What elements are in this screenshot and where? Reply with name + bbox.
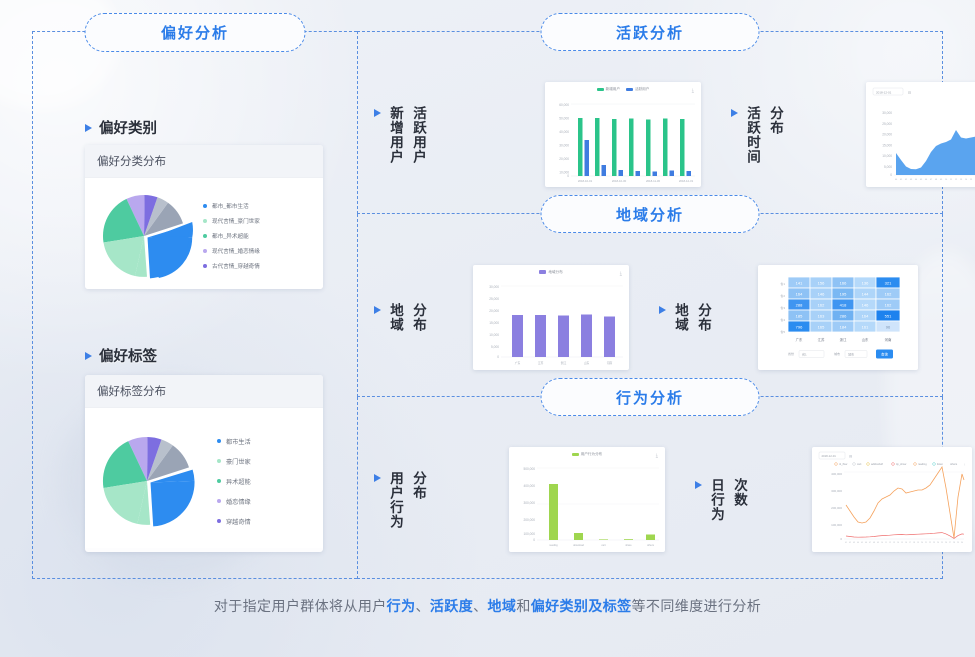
panel-active-analysis: 活跃分析 新增用户 活跃用户 新增用户 — [357, 31, 943, 214]
legend-dot-icon — [217, 499, 221, 503]
svg-text:share: share — [625, 544, 632, 547]
heading-preference-tag: 偏好标签 — [85, 345, 157, 366]
svg-text:141: 141 — [796, 280, 803, 285]
svg-text:162: 162 — [885, 302, 892, 307]
svg-text:30,000: 30,000 — [559, 144, 569, 148]
svg-text:listen: listen — [937, 462, 944, 466]
svg-text:17: 17 — [909, 542, 911, 544]
svg-text:addtoshelf: addtoshelf — [871, 462, 883, 466]
legend-label: 都市生活 — [226, 437, 251, 446]
right-panels: 活跃分析 新增用户 活跃用户 新增用户 — [357, 31, 943, 579]
svg-text:10: 10 — [881, 542, 883, 544]
svg-text:0: 0 — [533, 538, 535, 542]
svg-text:500,000: 500,000 — [523, 467, 535, 471]
behavior-item-daily-count: 日行为 次数 2018-12-01 ▤ t1_flow cart addtosh… — [695, 447, 972, 552]
svg-text:551: 551 — [885, 313, 892, 318]
svg-text:22: 22 — [929, 542, 931, 544]
legend-dot-icon — [203, 264, 207, 268]
svg-text:山东: 山东 — [584, 361, 590, 365]
label-distribution-text: 分布 — [766, 106, 784, 135]
region-item-heatmap: 地域 分布 省1省2省3 省4省5 — [659, 265, 918, 370]
svg-text:13: 13 — [960, 179, 963, 181]
legend-dot-icon — [203, 249, 207, 253]
legend-item: 现代言情_婚恋情缘 — [203, 247, 260, 255]
svg-text:40,000: 40,000 — [559, 130, 569, 134]
caption-part-5: 等不同维度进行分析 — [632, 598, 762, 614]
legend-item: 新增用户 — [597, 87, 620, 92]
svg-text:11: 11 — [885, 542, 887, 544]
svg-text:15: 15 — [901, 542, 903, 544]
svg-text:tip_show: tip_show — [896, 462, 906, 466]
legend-dot-icon — [217, 439, 221, 443]
svg-text:96: 96 — [886, 324, 891, 329]
svg-text:省3: 省3 — [780, 305, 785, 310]
svg-text:07: 07 — [930, 179, 933, 181]
svg-text:03: 03 — [853, 542, 855, 544]
heading-preference-tag-text: 偏好标签 — [99, 345, 157, 366]
triangle-bullet-icon — [374, 474, 381, 482]
svg-text:27: 27 — [949, 542, 951, 544]
label-new-active-users: 新增用户 活跃用户 — [374, 106, 535, 164]
legend-swatch-icon — [572, 453, 579, 457]
chart-card-region-bar[interactable]: 地域分布 ⤓ 30,000 25,000 20,000 15,000 10,00… — [473, 265, 629, 370]
label-region-distribution-2: 地域 分布 — [659, 303, 748, 332]
svg-text:08: 08 — [935, 179, 938, 181]
heatmap-footer-label-1: 省份 — [788, 351, 794, 356]
chart-card-region-heatmap[interactable]: 省1省2省3 省4省5 14115616613 — [758, 265, 918, 370]
legend-label: 用户行为分布 — [581, 452, 603, 457]
section-title-preference: 偏好分析 — [85, 13, 306, 52]
label-daily-behavior-count: 日行为 次数 — [695, 478, 802, 522]
legend-label: 豪门世家 — [226, 457, 251, 466]
bar-chart-user-behavior: 500,000 400,000 300,000 200,000 100,000 … — [509, 447, 665, 552]
svg-text:河南: 河南 — [885, 337, 892, 342]
card-preference-category-distribution[interactable]: 偏好分类分布 — [85, 145, 323, 289]
svg-text:100,000: 100,000 — [831, 523, 842, 527]
area-chart-active-time: 2018-12-01 日 ⤓ 30,000 25,000 20,000 15,0… — [866, 82, 975, 187]
bar-chart-region: 30,000 25,000 20,000 15,000 10,000 5,000… — [473, 265, 629, 370]
svg-text:25: 25 — [941, 542, 943, 544]
chart-card-user-behavior[interactable]: 用户行为分布 ⤓ 500,000 400,000 300,000 200,000… — [509, 447, 665, 552]
section-title-behavior-text: 行为分析 — [616, 387, 684, 408]
svg-text:cart: cart — [601, 544, 605, 547]
svg-text:江苏: 江苏 — [818, 337, 825, 342]
date-selector-value: 2018-12-01 — [822, 454, 837, 458]
svg-text:cart: cart — [857, 462, 862, 466]
line-chart-daily-behavior: 2018-12-01 ▤ t1_flow cart addtoshelf tip… — [812, 447, 972, 552]
svg-text:reading: reading — [918, 462, 927, 466]
label-region-text: 地域 — [386, 303, 404, 332]
label-distribution-text: 分布 — [409, 303, 427, 332]
svg-text:10,000: 10,000 — [882, 154, 892, 158]
section-title-preference-text: 偏好分析 — [161, 22, 229, 43]
svg-text:07: 07 — [869, 542, 871, 544]
card-body-preference-tag: 都市生活 豪门世家 异术超能 婚恋情缘 — [85, 408, 323, 548]
legend-item: 异术超能 — [217, 477, 251, 486]
svg-text:02: 02 — [905, 179, 908, 181]
svg-text:14: 14 — [897, 542, 899, 544]
svg-text:浙江: 浙江 — [840, 337, 847, 342]
svg-text:01: 01 — [845, 542, 847, 544]
legend-label: 古代言情_穿越奇情 — [212, 262, 260, 270]
pie-chart-preference-tag — [91, 422, 203, 540]
svg-text:321: 321 — [885, 280, 892, 285]
legend-dot-icon — [217, 479, 221, 483]
svg-text:21: 21 — [925, 542, 927, 544]
svg-text:23: 23 — [933, 542, 935, 544]
svg-text:0: 0 — [840, 537, 842, 541]
preference-category-block: 偏好类别 — [85, 117, 157, 138]
svg-text:11: 11 — [950, 179, 953, 181]
svg-text:省2: 省2 — [780, 293, 785, 298]
svg-text:162: 162 — [818, 302, 825, 307]
section-title-behavior: 行为分析 — [541, 378, 760, 416]
triangle-bullet-icon — [374, 306, 381, 314]
svg-text:164: 164 — [796, 291, 803, 296]
svg-text:02: 02 — [849, 542, 851, 544]
legend-label: 婚恋情缘 — [226, 497, 251, 506]
svg-text:t1_flow: t1_flow — [839, 462, 847, 466]
svg-text:195: 195 — [840, 291, 847, 296]
legend-dot-icon — [217, 459, 221, 463]
legend-label: 穿越奇情 — [226, 517, 251, 526]
diagram-board: 偏好分析 偏好类别 偏好分类分布 — [32, 31, 943, 579]
legend-swatch-icon — [597, 88, 604, 92]
legend-item: 古代言情_穿越奇情 — [203, 262, 260, 270]
caption-highlight-behavior: 行为 — [387, 598, 416, 614]
svg-text:60,000: 60,000 — [559, 103, 569, 107]
legend-item: 都市_都市生活 — [203, 202, 260, 210]
chart-legend-new-active-users: 新增用户 活跃用户 — [545, 87, 701, 92]
triangle-bullet-icon — [731, 109, 738, 117]
legend-swatch-icon — [539, 270, 546, 274]
caption-part-2: 、 — [415, 598, 429, 614]
legend-label: 现代言情_豪门世家 — [212, 217, 260, 225]
legend-item: 现代言情_豪门世家 — [203, 217, 260, 225]
label-active-time-text: 活跃时间 — [743, 106, 761, 164]
svg-text:200,000: 200,000 — [831, 506, 842, 510]
svg-text:广东: 广东 — [515, 361, 521, 365]
chart-card-new-active-users[interactable]: 新增用户 活跃用户 ⤓ 60,000 50,000 — [545, 82, 701, 187]
svg-text:2018-11-30: 2018-11-30 — [646, 179, 661, 183]
legend-item: 豪门世家 — [217, 457, 251, 466]
chart-card-active-time[interactable]: 2018-12-01 日 ⤓ 30,000 25,000 20,000 15,0… — [866, 82, 975, 187]
svg-text:20,000: 20,000 — [559, 157, 569, 161]
svg-text:300,000: 300,000 — [831, 489, 842, 493]
svg-text:2018-10-01: 2018-10-01 — [578, 179, 593, 183]
svg-text:09: 09 — [940, 179, 943, 181]
svg-text:146: 146 — [862, 302, 869, 307]
legend-dot-icon — [203, 204, 207, 208]
label-daily-behavior-text: 日行为 — [707, 478, 725, 522]
svg-text:others: others — [950, 462, 958, 466]
svg-text:⤓: ⤓ — [964, 463, 966, 466]
label-new-users-text: 新增用户 — [386, 106, 404, 164]
card-preference-tag-distribution[interactable]: 偏好标签分布 — [85, 375, 323, 552]
legend-item: 活跃用户 — [626, 87, 649, 92]
svg-text:200,000: 200,000 — [523, 518, 535, 522]
label-region-distribution-1: 地域 分布 — [374, 303, 463, 332]
legend-item: 地域分布 — [539, 270, 562, 275]
svg-text:01: 01 — [900, 179, 903, 181]
svg-text:20,000: 20,000 — [489, 309, 499, 313]
label-user-behavior-distribution: 用户行为 分布 — [374, 471, 499, 529]
caption-part-1: 对于指定用户群体将从用户 — [214, 598, 387, 614]
section-title-active: 活跃分析 — [541, 13, 760, 51]
legend-label: 异术超能 — [226, 477, 251, 486]
svg-text:06: 06 — [925, 179, 928, 181]
triangle-bullet-icon — [85, 352, 92, 360]
svg-text:省5: 省5 — [780, 329, 785, 334]
label-user-behavior-text: 用户行为 — [386, 471, 404, 529]
svg-text:浙江: 浙江 — [561, 361, 567, 365]
label-active-time-distribution: 活跃时间 分布 — [731, 106, 856, 164]
svg-text:286: 286 — [840, 313, 847, 318]
pie-legend-preference-category: 都市_都市生活 现代言情_豪门世家 都市_异术超能 现代言情_婚恋情缘 — [203, 202, 260, 270]
label-count-text: 次数 — [730, 478, 748, 507]
svg-text:30,000: 30,000 — [489, 285, 499, 289]
preference-tag-block: 偏好标签 — [85, 345, 157, 366]
pie-chart-preference-category — [91, 186, 197, 286]
svg-text:418: 418 — [840, 302, 847, 307]
legend-item: 都市生活 — [217, 437, 251, 446]
legend-label: 新增用户 — [606, 87, 620, 92]
section-title-active-text: 活跃分析 — [616, 22, 684, 43]
caption-part-4: 和 — [516, 598, 530, 614]
active-item-new-users: 新增用户 活跃用户 新增用户 活跃用户 — [374, 82, 701, 187]
svg-text:05: 05 — [920, 179, 923, 181]
svg-text:184: 184 — [840, 324, 847, 329]
heatmap-footer-value-2: 城市 — [848, 351, 854, 356]
legend-item: 穿越奇情 — [217, 517, 251, 526]
svg-text:146: 146 — [818, 291, 825, 296]
svg-text:156: 156 — [818, 280, 825, 285]
svg-text:5,000: 5,000 — [884, 165, 892, 169]
svg-text:河南: 河南 — [607, 361, 613, 365]
chart-legend-region: 地域分布 — [473, 270, 629, 275]
svg-text:others: others — [647, 544, 655, 547]
svg-text:江苏: 江苏 — [538, 361, 544, 365]
chart-legend-user-behavior: 用户行为分布 — [509, 452, 665, 457]
label-region-text: 地域 — [671, 303, 689, 332]
card-title-preference-category: 偏好分类分布 — [85, 145, 323, 178]
panel-preference-analysis: 偏好分析 偏好类别 偏好分类分布 — [32, 31, 357, 579]
svg-text:12: 12 — [889, 542, 891, 544]
triangle-bullet-icon — [374, 109, 381, 117]
legend-label: 活跃用户 — [635, 87, 649, 92]
svg-text:164: 164 — [862, 313, 869, 318]
svg-text:06: 06 — [865, 542, 867, 544]
download-icon[interactable]: ⤓ — [620, 271, 622, 277]
region-item-bar: 地域 分布 地域分布 ⤓ 30,000 — [374, 265, 629, 370]
download-icon[interactable]: ⤓ — [656, 453, 658, 459]
pie-legend-preference-tag: 都市生活 豪门世家 异术超能 婚恋情缘 — [217, 437, 251, 526]
legend-label: 地域分布 — [548, 270, 562, 275]
svg-text:14: 14 — [965, 179, 968, 181]
svg-text:0: 0 — [890, 173, 892, 177]
svg-text:12: 12 — [955, 179, 958, 181]
calendar-icon: ▤ — [849, 455, 852, 459]
caption-part-3: 、 — [473, 598, 487, 614]
active-item-time-distribution: 活跃时间 分布 2018-12-01 日 ⤓ 30,000 25,000 — [731, 82, 975, 187]
legend-dot-icon — [203, 234, 207, 238]
date-selector-value: 2018-12-01 — [876, 90, 892, 94]
svg-text:15: 15 — [970, 179, 973, 181]
label-distribution-text: 分布 — [694, 303, 712, 332]
svg-text:2018-12-31: 2018-12-31 — [679, 179, 694, 183]
behavior-item-distribution: 用户行为 分布 用户行为分布 ⤓ 500, — [374, 447, 665, 552]
legend-label: 都市_异术超能 — [212, 232, 249, 240]
legend-label: 现代言情_婚恋情缘 — [212, 247, 260, 255]
legend-item: 用户行为分布 — [572, 452, 603, 457]
svg-text:26: 26 — [945, 542, 947, 544]
svg-text:15,000: 15,000 — [489, 321, 499, 325]
svg-text:10,000: 10,000 — [489, 333, 499, 337]
svg-text:08: 08 — [873, 542, 875, 544]
legend-dot-icon — [203, 219, 207, 223]
svg-text:19: 19 — [917, 542, 919, 544]
svg-text:24: 24 — [937, 542, 939, 544]
svg-text:300,000: 300,000 — [523, 501, 535, 505]
svg-text:04: 04 — [857, 542, 859, 544]
caption-highlight-preference: 偏好类别及标签 — [531, 598, 632, 614]
footer-caption: 对于指定用户群体将从用户行为、活跃度、地域和偏好类别及标签等不同维度进行分析 — [0, 596, 975, 616]
svg-text:5,000: 5,000 — [491, 345, 499, 349]
svg-text:15,000: 15,000 — [882, 143, 892, 147]
svg-text:04: 04 — [915, 179, 918, 181]
triangle-bullet-icon — [695, 481, 702, 489]
svg-text:29: 29 — [957, 542, 959, 544]
svg-text:288: 288 — [796, 302, 803, 307]
svg-text:2018-10-30: 2018-10-30 — [612, 179, 627, 183]
svg-text:0: 0 — [497, 355, 499, 359]
legend-item: 都市_异术超能 — [203, 232, 260, 240]
svg-text:163: 163 — [818, 313, 825, 318]
svg-text:05: 05 — [861, 542, 863, 544]
legend-item: 婚恋情缘 — [217, 497, 251, 506]
svg-text:796: 796 — [796, 324, 803, 329]
svg-text:400,000: 400,000 — [831, 472, 842, 476]
svg-text:30,000: 30,000 — [882, 111, 892, 115]
heatmap-region: 省1省2省3 省4省5 14115616613 — [758, 265, 918, 370]
svg-text:00: 00 — [895, 179, 898, 181]
panel-behavior-analysis: 行为分析 用户行为 分布 用户行为分布 — [357, 397, 943, 579]
triangle-bullet-icon — [659, 306, 666, 314]
svg-text:广东: 广东 — [796, 337, 803, 342]
svg-text:18: 18 — [913, 542, 915, 544]
legend-swatch-icon — [626, 88, 633, 92]
svg-text:0: 0 — [567, 174, 569, 178]
download-icon[interactable]: ⤓ — [692, 88, 694, 94]
heading-preference-category-text: 偏好类别 — [99, 117, 157, 138]
svg-text:25,000: 25,000 — [882, 122, 892, 126]
svg-text:28: 28 — [953, 542, 955, 544]
svg-text:144: 144 — [862, 291, 869, 296]
chart-card-daily-behavior[interactable]: 2018-12-01 ▤ t1_flow cart addtoshelf tip… — [812, 447, 972, 552]
section-title-region: 地域分析 — [541, 195, 760, 233]
svg-text:16: 16 — [905, 542, 907, 544]
svg-text:400,000: 400,000 — [523, 484, 535, 488]
svg-text:20,000: 20,000 — [882, 133, 892, 137]
bar-chart-new-active-users: 60,000 50,000 40,000 30,000 20,000 10,00… — [545, 82, 701, 187]
svg-text:165: 165 — [818, 324, 825, 329]
svg-text:162: 162 — [885, 291, 892, 296]
svg-text:10: 10 — [945, 179, 948, 181]
label-distribution-text: 分布 — [409, 471, 427, 500]
svg-text:reading: reading — [549, 544, 558, 547]
svg-text:03: 03 — [910, 179, 913, 181]
svg-text:download: download — [573, 544, 584, 547]
card-body-preference-category: 都市_都市生活 现代言情_豪门世家 都市_异术超能 现代言情_婚恋情缘 — [85, 178, 323, 289]
svg-text:山东: 山东 — [862, 337, 869, 342]
card-title-preference-tag: 偏好标签分布 — [85, 375, 323, 408]
svg-text:161: 161 — [862, 324, 869, 329]
svg-text:25,000: 25,000 — [489, 297, 499, 301]
svg-text:30: 30 — [961, 542, 963, 544]
svg-text:100,000: 100,000 — [523, 532, 535, 536]
section-title-region-text: 地域分析 — [616, 204, 684, 225]
legend-dot-icon — [217, 519, 221, 523]
heatmap-footer-value-1: 省1 — [802, 351, 807, 356]
panel-region-analysis: 地域分析 地域 分布 地域分布 — [357, 214, 943, 397]
svg-text:查询: 查询 — [881, 351, 888, 356]
triangle-bullet-icon — [85, 124, 92, 132]
svg-text:50,000: 50,000 — [559, 117, 569, 121]
svg-text:13: 13 — [893, 542, 895, 544]
caption-highlight-region: 地域 — [488, 598, 517, 614]
svg-text:省1: 省1 — [780, 281, 785, 286]
svg-text:166: 166 — [840, 280, 847, 285]
heading-preference-category: 偏好类别 — [85, 117, 157, 138]
svg-text:20: 20 — [921, 542, 923, 544]
svg-text:省4: 省4 — [780, 317, 785, 322]
unit-selector-value: 日 — [908, 90, 911, 94]
svg-text:185: 185 — [796, 313, 803, 318]
svg-text:136: 136 — [862, 280, 869, 285]
legend-label: 都市_都市生活 — [212, 202, 249, 210]
svg-text:09: 09 — [877, 542, 879, 544]
label-active-users-text: 活跃用户 — [409, 106, 427, 164]
heatmap-footer-label-2: 城市 — [834, 351, 840, 356]
caption-highlight-activity: 活跃度 — [430, 598, 473, 614]
